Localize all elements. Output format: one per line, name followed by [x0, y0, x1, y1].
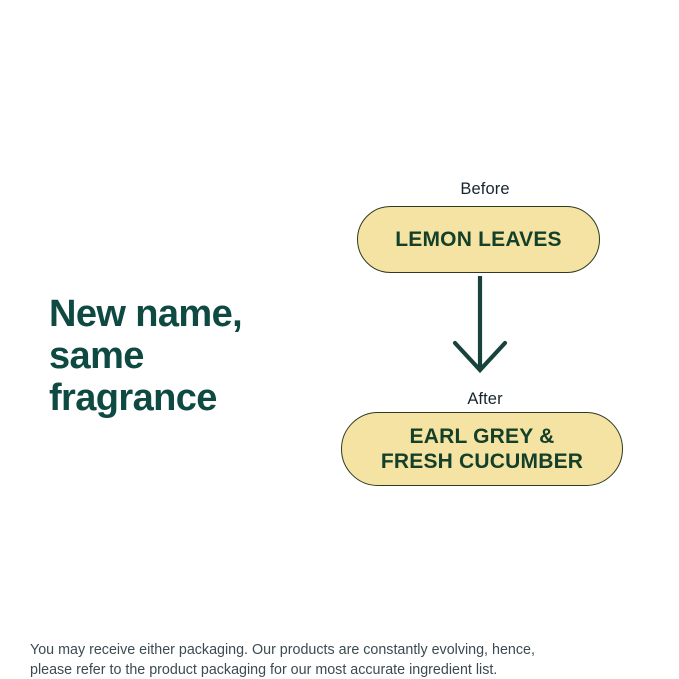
down-arrow-icon — [448, 276, 512, 376]
page-title: New name, same fragrance — [49, 293, 349, 419]
after-product-name-pill: EARL GREY & FRESH CUCUMBER — [341, 412, 623, 486]
packaging-disclaimer: You may receive either packaging. Our pr… — [30, 640, 640, 679]
before-product-name-text: LEMON LEAVES — [395, 227, 562, 252]
after-label: After — [330, 389, 640, 409]
before-after-flow: Before LEMON LEAVES After EARL GREY & FR… — [330, 170, 640, 500]
before-product-name-pill: LEMON LEAVES — [357, 206, 600, 273]
after-product-name-text: EARL GREY & FRESH CUCUMBER — [381, 424, 583, 474]
before-label: Before — [330, 179, 640, 199]
product-name-change-graphic: New name, same fragrance Before LEMON LE… — [0, 0, 679, 679]
